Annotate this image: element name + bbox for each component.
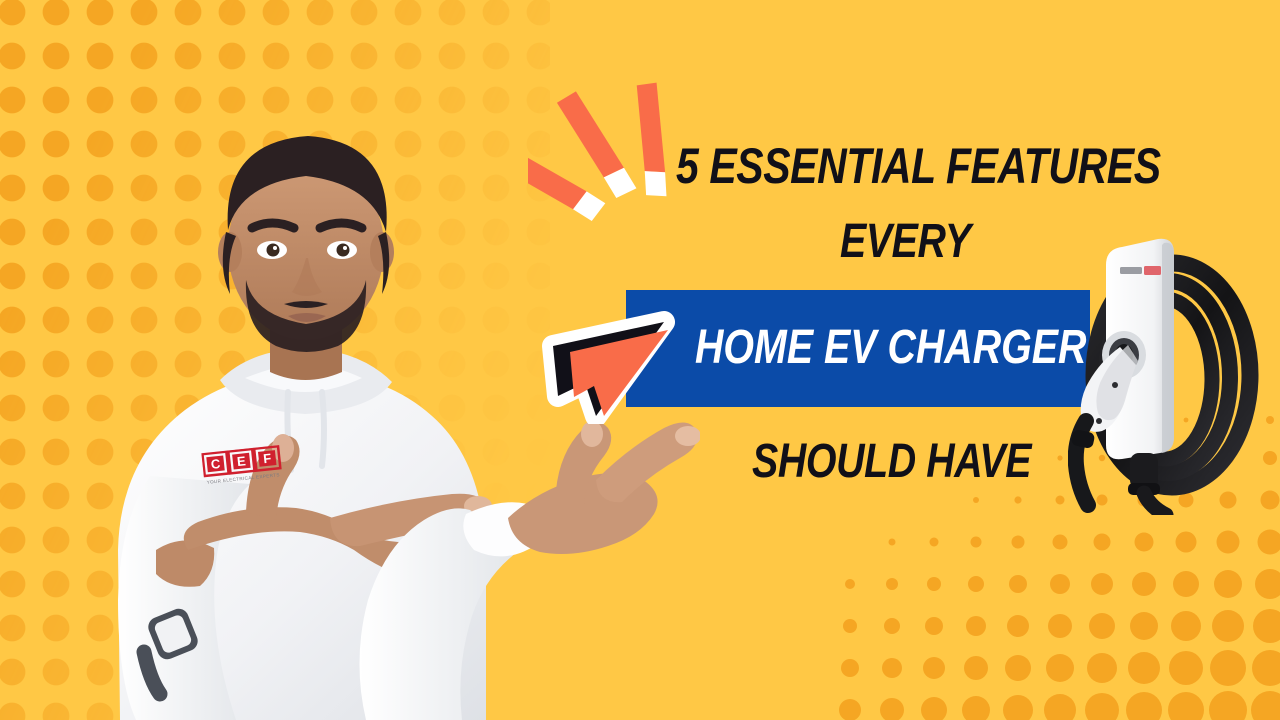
headline-line-2: EVERY bbox=[840, 218, 971, 266]
headline-line-3: SHOULD HAVE bbox=[752, 438, 1031, 486]
svg-text:E: E bbox=[236, 453, 247, 469]
cursor-arrow-icon bbox=[538, 306, 688, 424]
poster-canvas: C E F YOUR ELECTRICAL EXPERTS bbox=[0, 0, 1280, 720]
svg-text:F: F bbox=[262, 451, 272, 467]
ev-charger-product bbox=[1068, 225, 1280, 515]
banner-headline-text: HOME EV CHARGER bbox=[695, 324, 1086, 372]
headline-line-1: 5 ESSENTIAL FEATURES bbox=[676, 141, 1161, 191]
